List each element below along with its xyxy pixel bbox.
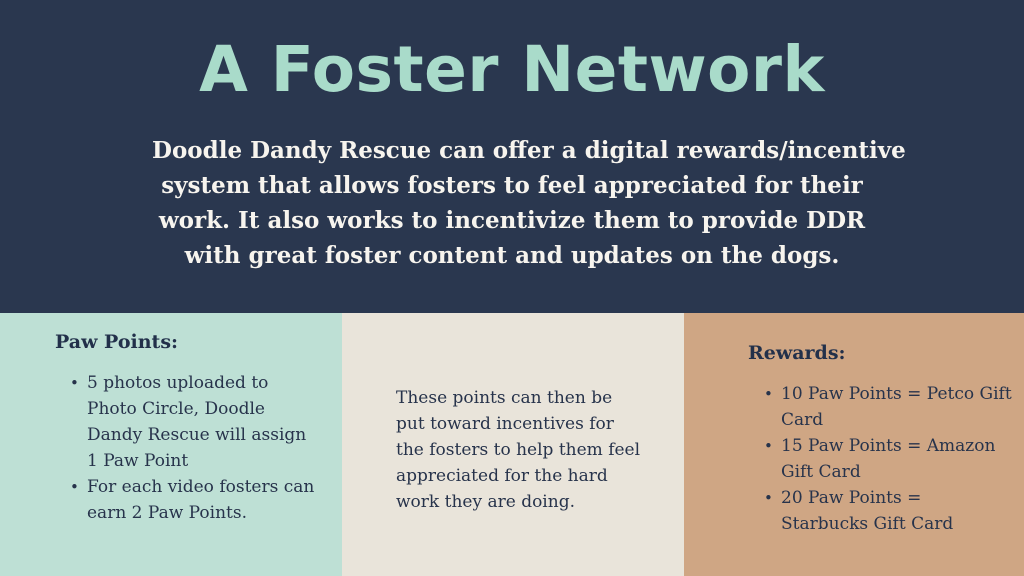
list-item: 5 photos uploaded to Photo Circle, Doodl… [70, 370, 320, 474]
page-title: A Foster Network [0, 33, 1024, 107]
subtitle-line: work. It also works to incentivize them … [152, 203, 872, 238]
subtitle-line: Doodle Dandy Rescue can offer a digital … [152, 133, 872, 168]
subtitle-line: with great foster content and updates on… [152, 238, 872, 273]
subtitle-line: system that allows fosters to feel appre… [152, 168, 872, 203]
slide-header: A Foster Network Doodle Dandy Rescue can… [0, 0, 1024, 313]
list-item: 20 Paw Points = Starbucks Gift Card [764, 485, 1012, 537]
column-rewards: Rewards: 10 Paw Points = Petco Gift Card… [684, 313, 1024, 576]
column-paw-points: Paw Points: 5 photos uploaded to Photo C… [0, 313, 342, 576]
list-item: 10 Paw Points = Petco Gift Card [764, 381, 1012, 433]
paw-points-heading: Paw Points: [55, 330, 178, 354]
slide-canvas: A Foster Network Doodle Dandy Rescue can… [0, 0, 1024, 576]
columns-row: Paw Points: 5 photos uploaded to Photo C… [0, 313, 1024, 576]
rewards-heading: Rewards: [748, 341, 846, 365]
list-item: 15 Paw Points = Amazon Gift Card [764, 433, 1012, 485]
description-paragraph: These points can then be put toward ince… [396, 385, 642, 515]
paw-points-list: 5 photos uploaded to Photo Circle, Doodl… [70, 370, 320, 526]
list-item: For each video fosters can earn 2 Paw Po… [70, 474, 320, 526]
column-description: These points can then be put toward ince… [342, 313, 684, 576]
rewards-list: 10 Paw Points = Petco Gift Card 15 Paw P… [764, 381, 1012, 537]
subtitle-block: Doodle Dandy Rescue can offer a digital … [152, 133, 872, 273]
